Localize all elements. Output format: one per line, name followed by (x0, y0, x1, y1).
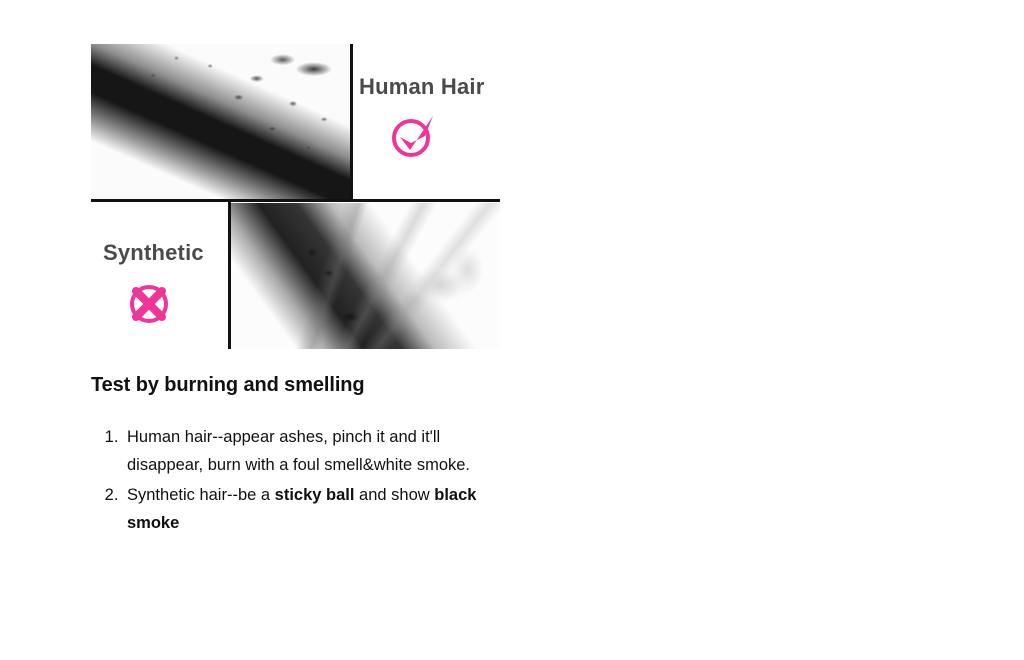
list-item: Human hair--appear ashes, pinch it and i… (123, 423, 511, 479)
figure-divider-vertical-top (350, 44, 353, 201)
burn-test-text-block: Test by burning and smelling Human hair-… (91, 374, 511, 539)
figure-divider-vertical-bottom (228, 202, 231, 349)
left-heading: Test by burning and smelling (91, 374, 511, 397)
burn-test-figure: Human Hair Synthetic (91, 44, 500, 349)
cross-mark-icon (123, 278, 175, 330)
human-hair-burn-photo (91, 44, 350, 201)
list-item: Synthetic hair--be a sticky ball and sho… (123, 481, 511, 537)
right-column: Conserve Comb Lotion How to Care Youur W… (512, 0, 1024, 660)
figure-divider-horizontal (91, 199, 500, 202)
check-mark-icon (387, 110, 439, 162)
left-column: Human Hair Synthetic Test by burning and… (0, 0, 512, 660)
synthetic-hair-burn-photo (228, 203, 500, 349)
left-steps-list: Human hair--appear ashes, pinch it and i… (91, 423, 511, 537)
synthetic-label: Synthetic (103, 240, 204, 266)
human-hair-label: Human Hair (359, 74, 484, 100)
